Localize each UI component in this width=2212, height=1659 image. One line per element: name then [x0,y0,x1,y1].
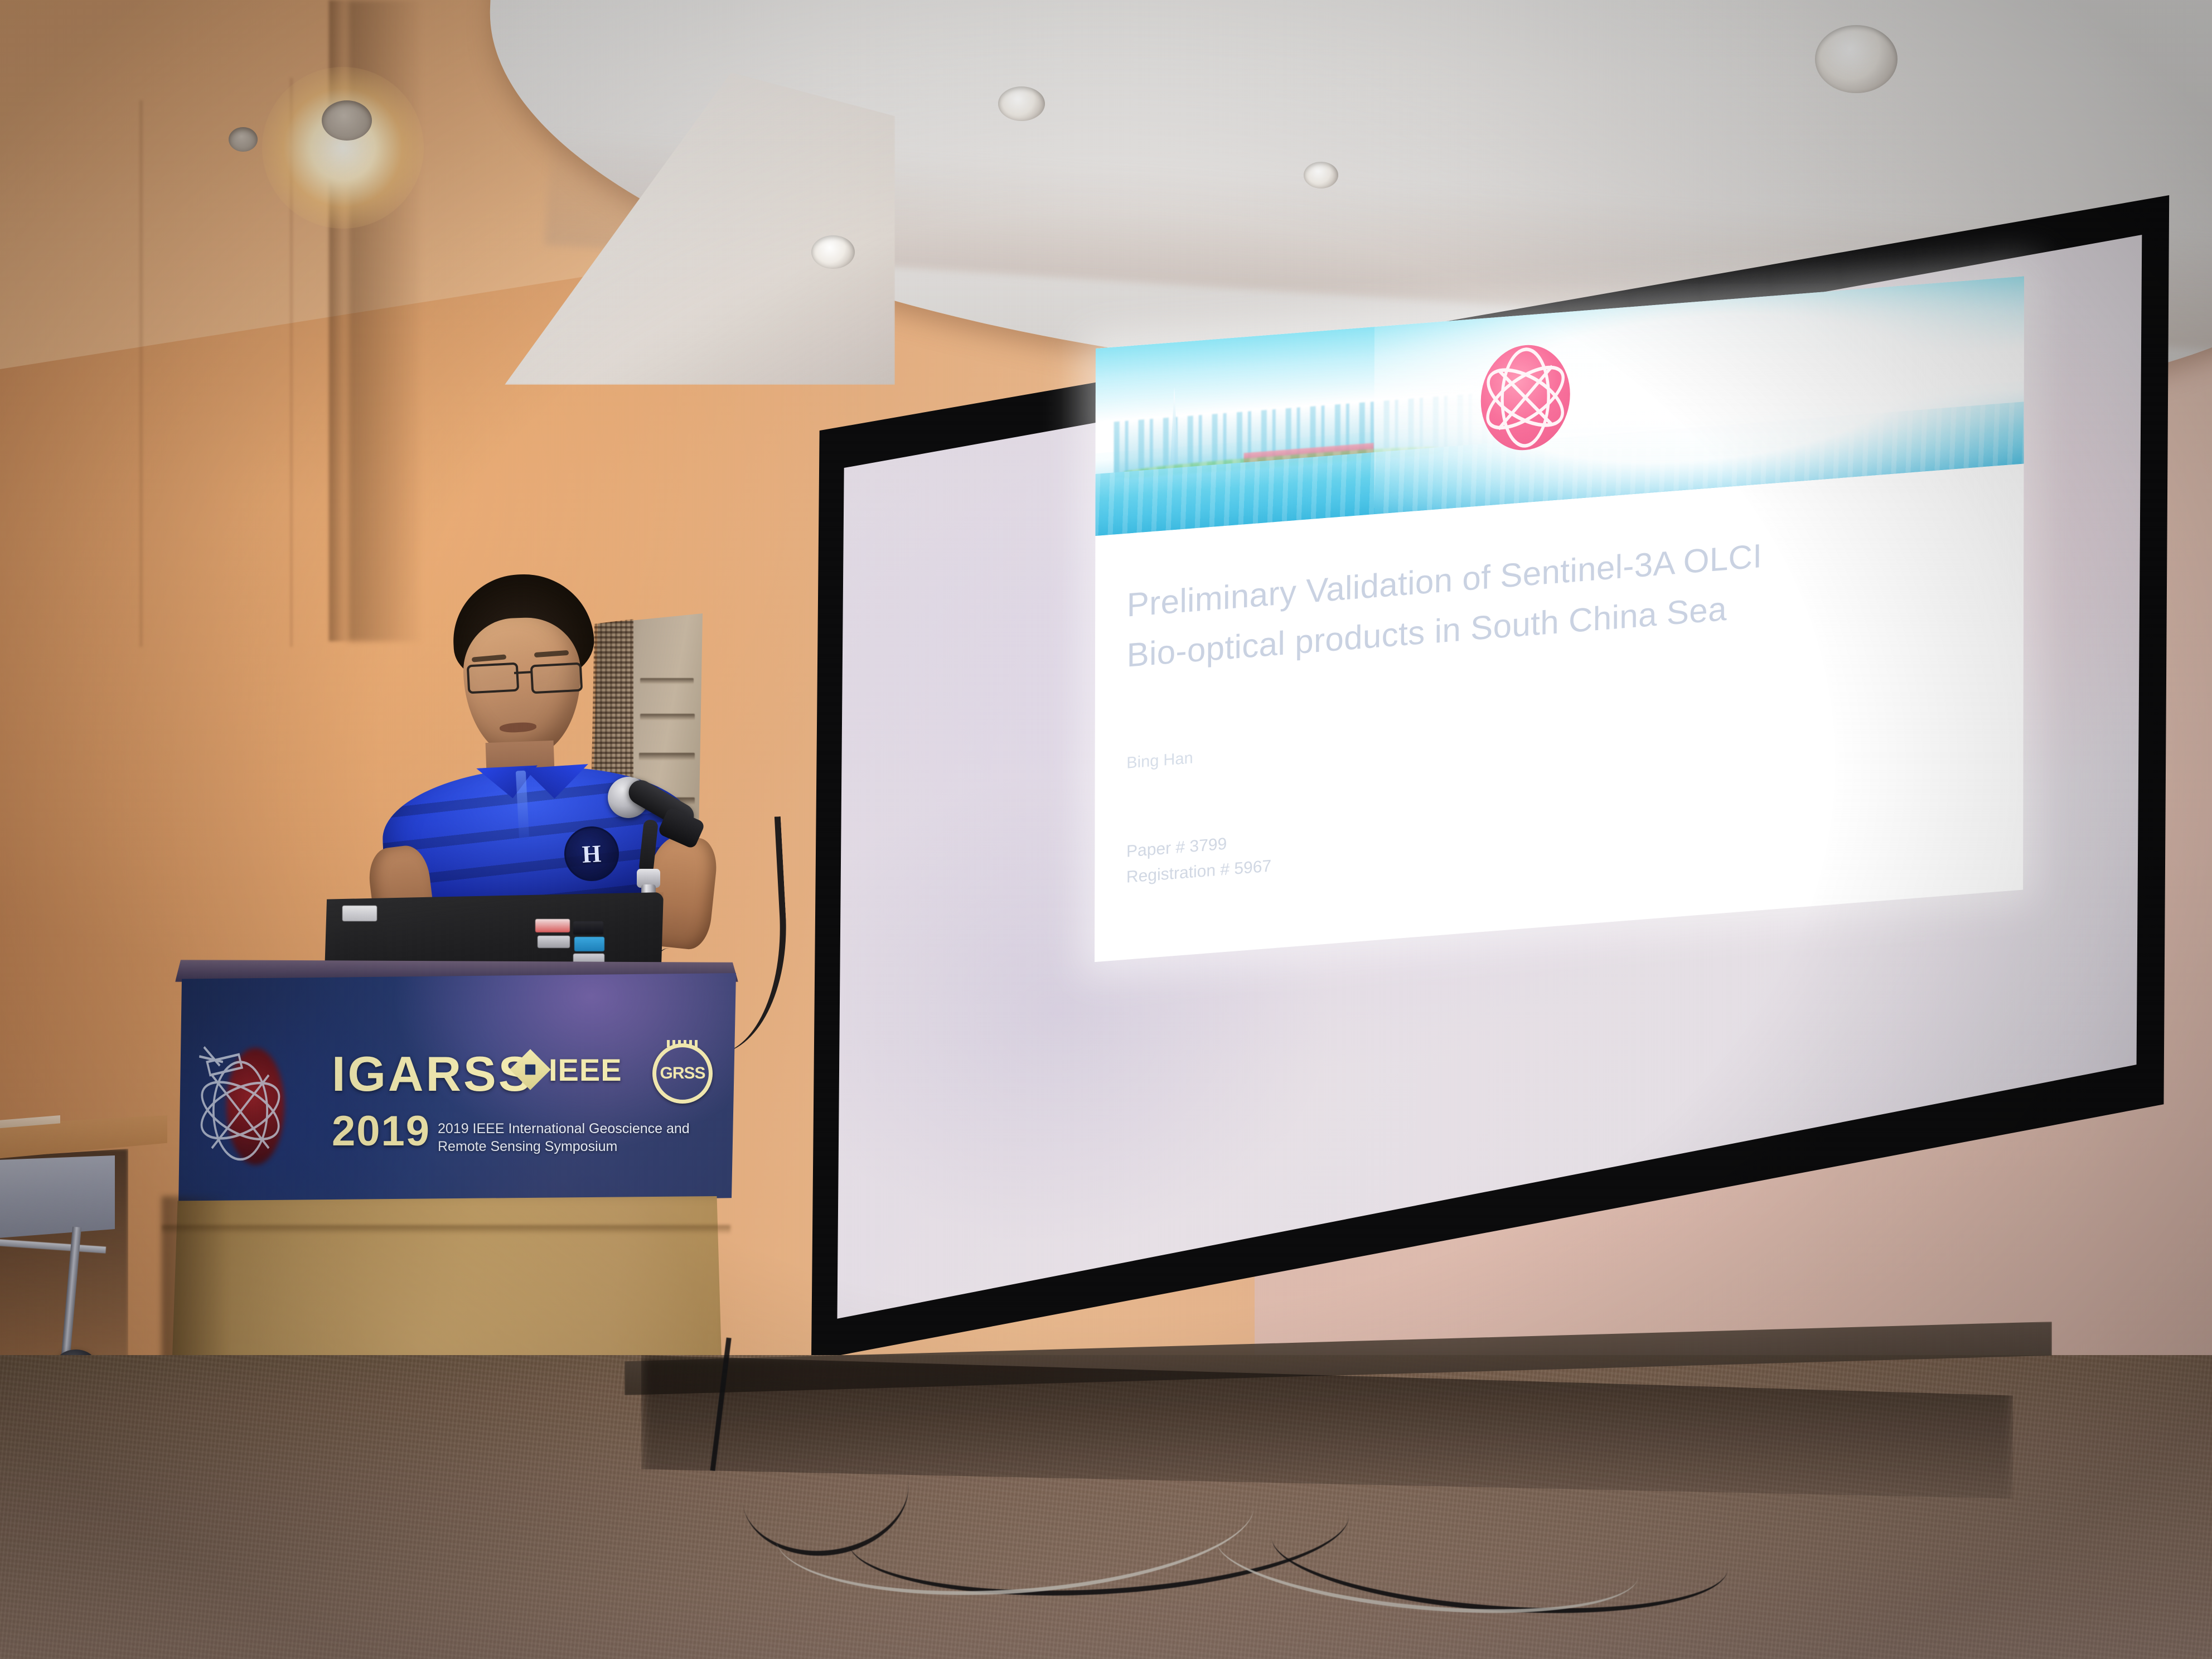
laptop-sticker-dark [573,921,603,935]
ceiling-downlight-left-2 [322,100,372,141]
ceiling-downlight-center [998,86,1045,121]
podium-subtitle: 2019 IEEE International Geoscience and R… [438,1120,728,1156]
igarss-podium-sign: IGARSS 2019 2019 IEEE International Geos… [178,973,736,1207]
ceiling-downlight-far-left [1304,162,1338,188]
igarss-globe-mark-icon [1481,341,1570,453]
podium-subtitle-line-1: 2019 IEEE International Geoscience and [438,1120,728,1138]
podium-subtitle-line-2: Remote Sensing Symposium [438,1138,728,1156]
presenter-crest-letter: H [582,839,602,869]
ceiling-downlight-right [1815,25,1898,93]
glasses-bridge [514,671,532,674]
wall-seam-1 [139,100,143,647]
glasses-lens-right [530,662,583,694]
presentation-room-photo: Preliminary Validation of Sentinel-3A OL… [0,0,2212,1659]
glasses-lens-left [467,662,520,694]
grss-logo-icon: GRSS [652,1043,713,1104]
podium-brand-year: 2019 [332,1111,430,1152]
laptop-sticker-blue [574,937,604,951]
grss-tick-marks [667,1040,698,1047]
lectern-trim-band [162,1225,730,1234]
ieee-logo: IEEE [516,1052,622,1088]
ceiling-downlight-lit [262,67,424,229]
igarss-satellite-globe-icon [193,1034,288,1174]
grss-wordmark: GRSS [660,1064,705,1083]
glasses-icon [466,664,581,689]
table-modesty-panel [0,1155,115,1239]
ceiling-downlight-left-small [229,127,258,152]
ieee-wordmark: IEEE [549,1052,622,1088]
ieee-diamond-icon [510,1049,551,1090]
podium-brand-igarss: IGARSS [332,1051,533,1097]
laptop-sticker-grey [538,936,570,948]
laptop-sticker-asset-tag [342,906,377,921]
laptop-sticker-red [535,919,570,932]
projected-slide: Preliminary Validation of Sentinel-3A OL… [1095,276,2024,962]
